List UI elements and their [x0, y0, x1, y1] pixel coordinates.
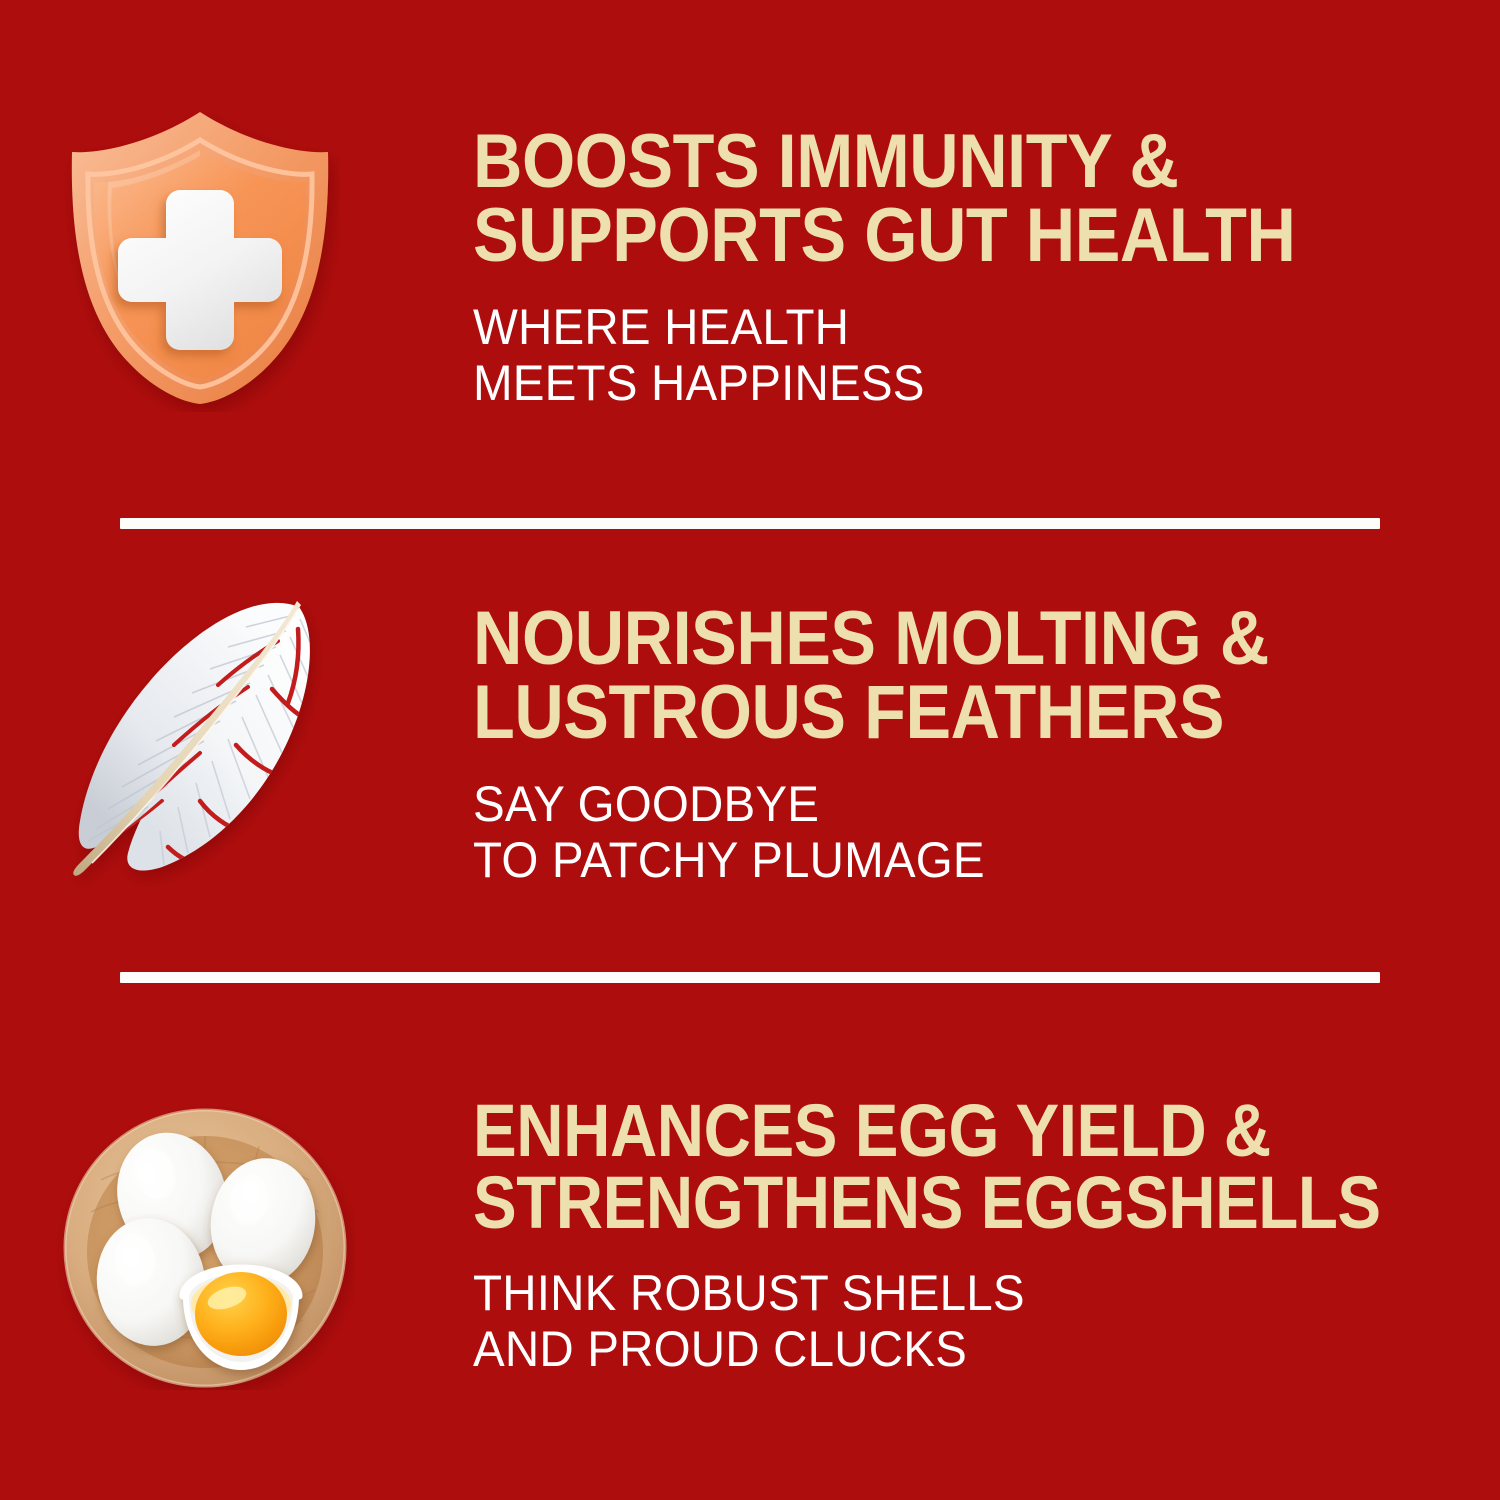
subline-line-1: THINK ROBUST SHELLS [473, 1265, 1025, 1321]
benefit-subline: THINK ROBUST SHELLS AND PROUD CLUCKS [473, 1265, 1447, 1377]
benefit-icon-cell [0, 518, 400, 972]
benefit-icon-cell [0, 972, 400, 1500]
headline-line-2: LUSTROUS FEATHERS [473, 670, 1224, 755]
section-divider-2 [120, 972, 1380, 983]
headline-line-2: SUPPORTS GUT HEALTH [473, 193, 1295, 278]
headline-line-1: ENHANCES EGG YIELD & [473, 1089, 1271, 1172]
subline-line-2: MEETS HAPPINESS [473, 355, 1430, 411]
benefit-headline: NOURISHES MOLTING & LUSTROUS FEATHERS [473, 602, 1379, 749]
benefit-headline: BOOSTS IMMUNITY & SUPPORTS GUT HEALTH [473, 125, 1379, 272]
shield-plus-icon [60, 102, 340, 412]
benefit-icon-cell [0, 18, 400, 518]
subline-line-1: SAY GOODBYE [473, 776, 819, 832]
subline-line-2: AND PROUD CLUCKS [473, 1321, 1447, 1377]
benefit-text-cell: ENHANCES EGG YIELD & STRENGTHENS EGGSHEL… [400, 1095, 1500, 1377]
eggs-bowl-icon [55, 1100, 355, 1390]
benefit-text-cell: BOOSTS IMMUNITY & SUPPORTS GUT HEALTH WH… [400, 125, 1500, 410]
benefit-subline: WHERE HEALTH MEETS HAPPINESS [473, 299, 1430, 411]
subline-line-1: WHERE HEALTH [473, 299, 849, 355]
section-divider-1 [120, 518, 1380, 529]
benefits-infographic: BOOSTS IMMUNITY & SUPPORTS GUT HEALTH WH… [0, 0, 1500, 1500]
headline-line-1: NOURISHES MOLTING & [473, 596, 1269, 681]
subline-line-2: TO PATCHY PLUMAGE [473, 832, 1430, 888]
headline-line-1: BOOSTS IMMUNITY & [473, 119, 1179, 204]
benefit-row-eggs: ENHANCES EGG YIELD & STRENGTHENS EGGSHEL… [0, 972, 1500, 1500]
benefit-headline: ENHANCES EGG YIELD & STRENGTHENS EGGSHEL… [473, 1095, 1381, 1239]
benefit-row-feathers: NOURISHES MOLTING & LUSTROUS FEATHERS SA… [0, 518, 1500, 972]
benefit-subline: SAY GOODBYE TO PATCHY PLUMAGE [473, 776, 1430, 888]
headline-line-2: STRENGTHENS EGGSHELLS [473, 1161, 1381, 1244]
benefit-row-immunity: BOOSTS IMMUNITY & SUPPORTS GUT HEALTH WH… [0, 0, 1500, 518]
benefit-text-cell: NOURISHES MOLTING & LUSTROUS FEATHERS SA… [400, 602, 1500, 887]
feather-icon [50, 585, 350, 905]
